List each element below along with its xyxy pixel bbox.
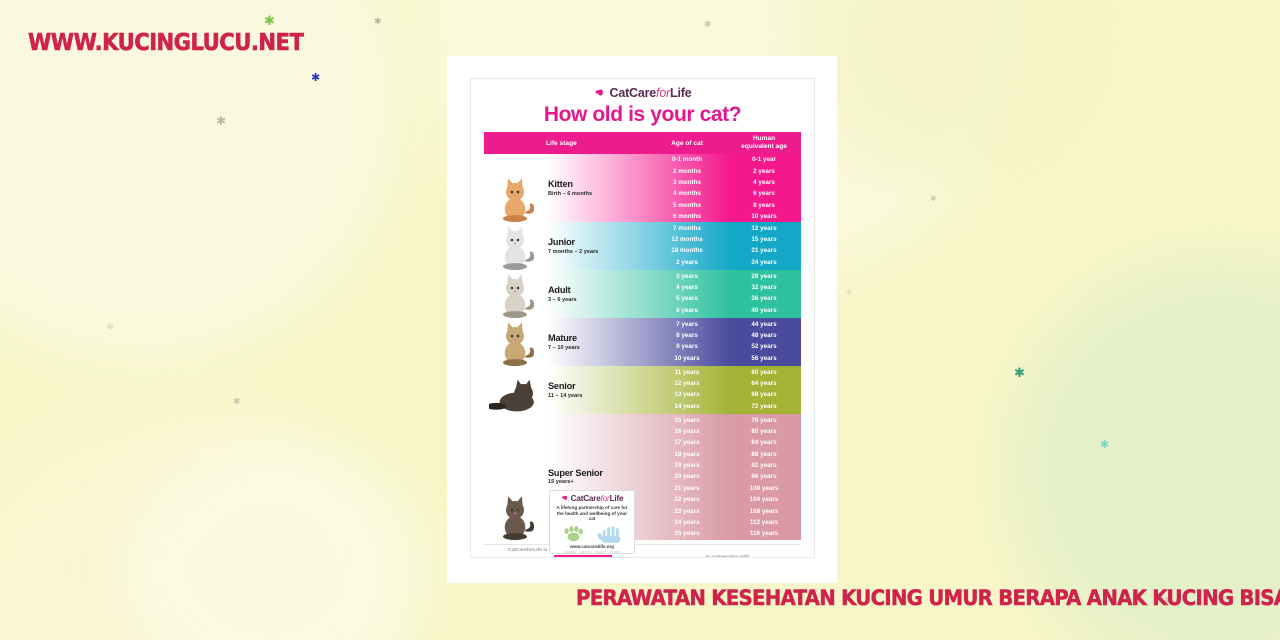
- decorative-star-icon: ✱: [233, 397, 241, 406]
- watermark-bottom-caption: PERAWATAN KESEHATAN KUCING UMUR BERAPA A…: [576, 586, 1280, 610]
- table-row: 23 years108 years: [649, 505, 803, 516]
- age-conversion-table: Life stage Age of cat Human equivalent a…: [484, 132, 801, 540]
- cell-human-equivalent-age: 56 years: [725, 355, 803, 362]
- table-body: KittenBirth – 6 months0-1 month0-1 year2…: [484, 154, 801, 540]
- cell-age-of-cat: 22 years: [649, 496, 725, 503]
- cat-photo-0: [489, 174, 541, 222]
- cell-age-of-cat: 14 years: [649, 403, 725, 410]
- cell-age-of-cat: 7 years: [649, 321, 725, 328]
- life-stage-band: Mature7 – 10 years7 years44 years8 years…: [484, 318, 801, 366]
- table-row: 2 months2 years: [649, 165, 803, 176]
- table-row: 25 years116 years: [649, 528, 803, 539]
- stage-age-range: 7 – 10 years: [548, 345, 649, 351]
- stage-name: Junior: [548, 238, 649, 248]
- table-row: 11 years60 years: [649, 366, 803, 377]
- stage-text-cell: Super Senior15 years+: [546, 469, 649, 486]
- age-rows-group: 11 years60 years12 years64 years13 years…: [649, 366, 803, 414]
- table-row: 14 years72 years: [649, 401, 803, 412]
- promo-brand-life: Life: [610, 494, 624, 503]
- cat-photo-4: [489, 366, 541, 414]
- table-row: 2 years24 years: [649, 257, 803, 268]
- table-row: 15 years76 years: [649, 414, 803, 425]
- age-rows-group: 7 years44 years8 years48 years9 years52 …: [649, 318, 803, 366]
- life-stage-label-cell: Mature7 – 10 years: [484, 318, 649, 366]
- cell-human-equivalent-age: 0-1 year: [725, 156, 803, 163]
- poster-footer: CatCareforLife is brought to you by inte…: [484, 544, 801, 558]
- age-rows-group: 7 months12 years12 months15 years18 mont…: [649, 222, 803, 270]
- cat-image-cell: [484, 318, 546, 366]
- cell-age-of-cat: 5 years: [649, 295, 725, 302]
- table-row: 4 months6 years: [649, 188, 803, 199]
- column-header-age-of-cat: Age of cat: [649, 140, 725, 147]
- stage-age-range: 11 – 14 years: [548, 393, 649, 399]
- cell-human-equivalent-age: 21 years: [725, 247, 803, 254]
- cell-age-of-cat: 6 months: [649, 213, 725, 220]
- cell-human-equivalent-age: 60 years: [725, 369, 803, 376]
- cell-human-equivalent-age: 108 years: [725, 508, 803, 515]
- life-stage-band: Adult3 – 6 years3 years28 years4 years32…: [484, 270, 801, 318]
- stage-age-range: 3 – 6 years: [548, 297, 649, 303]
- cell-age-of-cat: 11 years: [649, 369, 725, 376]
- cat-photo-5: [489, 492, 541, 540]
- watermark-top-url: WWW.KUCINGLUCU.NET: [28, 30, 303, 56]
- life-stage-band: Senior11 – 14 years11 years60 years12 ye…: [484, 366, 801, 414]
- life-stage-band: Junior7 months – 2 years7 months12 years…: [484, 222, 801, 270]
- cell-human-equivalent-age: 6 years: [725, 190, 803, 197]
- catcareforlife-logo: CatCareforLife: [471, 86, 814, 100]
- cell-human-equivalent-age: 52 years: [725, 343, 803, 350]
- cell-age-of-cat: 13 years: [649, 391, 725, 398]
- brand-life: Life: [670, 86, 691, 100]
- table-row: 7 months12 years: [649, 222, 803, 233]
- cell-age-of-cat: 2 years: [649, 259, 725, 266]
- table-row: 3 years28 years: [649, 270, 803, 281]
- cat-photo-3: [489, 318, 541, 366]
- cell-human-equivalent-age: 15 years: [725, 236, 803, 243]
- stage-age-range: Birth – 6 months: [548, 191, 649, 197]
- decorative-star-icon: ✱: [311, 73, 320, 84]
- cell-human-equivalent-age: 40 years: [725, 307, 803, 314]
- cell-age-of-cat: 5 months: [649, 202, 725, 209]
- cell-age-of-cat: 19 years: [649, 462, 725, 469]
- footer-partners: in partnership with IDEXX LABORATORIES ♖…: [654, 555, 801, 558]
- stage-age-range: 15 years+: [548, 479, 649, 485]
- promo-sponsor-logos: [550, 551, 634, 554]
- cell-human-equivalent-age: 44 years: [725, 321, 803, 328]
- table-row: 0-1 month0-1 year: [649, 154, 803, 165]
- decorative-star-icon: ✱: [106, 323, 114, 333]
- cell-human-equivalent-age: 96 years: [725, 473, 803, 480]
- column-header-life-stage: Life stage: [546, 140, 649, 147]
- cell-age-of-cat: 18 years: [649, 451, 725, 458]
- cell-age-of-cat: 23 years: [649, 508, 725, 515]
- table-row: 19 years92 years: [649, 460, 803, 471]
- table-row: 6 years40 years: [649, 305, 803, 316]
- decorative-star-icon: ✱: [1014, 366, 1025, 379]
- life-stage-band: Super Senior15 years+15 years76 years16 …: [484, 414, 801, 539]
- stage-text-cell: Senior11 – 14 years: [546, 382, 649, 399]
- isfm-wordmark: isfm: [554, 555, 612, 558]
- stage-text-cell: Junior7 months – 2 years: [546, 238, 649, 255]
- table-row: 5 months8 years: [649, 200, 803, 211]
- promo-brand-catcare: CatCare: [571, 494, 601, 503]
- cell-age-of-cat: 24 years: [649, 519, 725, 526]
- cell-age-of-cat: 7 months: [649, 225, 725, 232]
- table-row: 16 years80 years: [649, 426, 803, 437]
- cell-human-equivalent-age: 8 years: [725, 202, 803, 209]
- cell-age-of-cat: 3 years: [649, 273, 725, 280]
- column-header-human-line1: Human: [725, 135, 803, 143]
- decorative-star-icon: ✱: [846, 289, 853, 297]
- cell-age-of-cat: 21 years: [649, 485, 725, 492]
- cell-human-equivalent-age: 32 years: [725, 284, 803, 291]
- decorative-star-icon: ✱: [1100, 440, 1109, 451]
- international-cat-care-wordmark: international cat care: [507, 557, 550, 558]
- age-rows-group: 0-1 month0-1 year2 months2 years3 months…: [649, 154, 803, 222]
- cell-human-equivalent-age: 104 years: [725, 496, 803, 503]
- brand-for: for: [656, 86, 670, 100]
- table-row: 18 years88 years: [649, 449, 803, 460]
- cell-age-of-cat: 2 months: [649, 168, 725, 175]
- cell-age-of-cat: 4 months: [649, 190, 725, 197]
- cell-age-of-cat: 12 years: [649, 380, 725, 387]
- age-rows-group: 15 years76 years16 years80 years17 years…: [649, 414, 803, 539]
- catcareforlife-promo-card[interactable]: CatCareforLife A lifelong partnership of…: [549, 490, 635, 554]
- footer-logo-row: international cat care isfm Internationa…: [484, 555, 654, 558]
- stage-name: Mature: [548, 334, 649, 344]
- stage-name: Kitten: [548, 180, 649, 190]
- decorative-star-icon: ✱: [704, 20, 712, 29]
- promo-logo: CatCareforLife: [550, 494, 634, 503]
- promo-sponsor-logo: [609, 551, 621, 554]
- table-row: 22 years104 years: [649, 494, 803, 505]
- stage-text-cell: Mature7 – 10 years: [546, 334, 649, 351]
- table-row: 8 years48 years: [649, 330, 803, 341]
- stage-name: Super Senior: [548, 469, 649, 479]
- cat-image-cell: [484, 154, 546, 222]
- cell-age-of-cat: 17 years: [649, 439, 725, 446]
- cell-human-equivalent-age: 24 years: [725, 259, 803, 266]
- cell-human-equivalent-age: 112 years: [725, 519, 803, 526]
- cell-human-equivalent-age: 28 years: [725, 273, 803, 280]
- table-row: 20 years96 years: [649, 471, 803, 482]
- background-blob-green: [1010, 260, 1280, 640]
- promo-sponsor-logo: [579, 551, 591, 554]
- life-stage-label-cell: KittenBirth – 6 months: [484, 154, 649, 222]
- cell-human-equivalent-age: 116 years: [725, 530, 803, 537]
- table-row: 3 months4 years: [649, 177, 803, 188]
- green-paw-icon: [564, 526, 582, 541]
- cell-human-equivalent-age: 80 years: [725, 428, 803, 435]
- cell-human-equivalent-age: 12 years: [725, 225, 803, 232]
- stage-name: Senior: [548, 382, 649, 392]
- table-row: 18 months21 years: [649, 245, 803, 256]
- cat-image-cell: [484, 366, 546, 414]
- blue-hand-icon: [597, 526, 621, 543]
- cell-human-equivalent-age: 2 years: [725, 168, 803, 175]
- cell-age-of-cat: 3 months: [649, 179, 725, 186]
- cat-photo-2: [489, 270, 541, 318]
- table-row: 4 years32 years: [649, 282, 803, 293]
- promo-brand-for: for: [601, 494, 610, 503]
- cell-human-equivalent-age: 72 years: [725, 403, 803, 410]
- cell-age-of-cat: 16 years: [649, 428, 725, 435]
- stage-name: Adult: [548, 286, 649, 296]
- cat-paw-icon: [561, 494, 570, 503]
- cell-age-of-cat: 9 years: [649, 343, 725, 350]
- cell-human-equivalent-age: 36 years: [725, 295, 803, 302]
- cat-image-cell: [484, 270, 546, 318]
- brand-text: CatCareforLife: [610, 86, 692, 100]
- brand-catcare: CatCare: [610, 86, 657, 100]
- cat-age-chart-poster: CatCareforLife How old is your cat? Life…: [470, 78, 815, 558]
- table-row: 21 years100 years: [649, 483, 803, 494]
- cell-human-equivalent-age: 84 years: [725, 439, 803, 446]
- decorative-star-icon: ✱: [374, 17, 382, 26]
- cell-age-of-cat: 15 years: [649, 417, 725, 424]
- cell-age-of-cat: 20 years: [649, 473, 725, 480]
- table-row: 24 years112 years: [649, 517, 803, 528]
- international-cat-care-icon: [484, 556, 503, 558]
- promo-sponsor-logo: [564, 551, 576, 554]
- decorative-star-icon: ✱: [930, 195, 937, 203]
- cell-human-equivalent-age: 88 years: [725, 451, 803, 458]
- promo-url[interactable]: www.catcare4life.org: [550, 544, 634, 549]
- cell-age-of-cat: 12 months: [649, 236, 725, 243]
- stage-age-range: 7 months – 2 years: [548, 249, 649, 255]
- cell-human-equivalent-age: 100 years: [725, 485, 803, 492]
- page-title: How old is your cat?: [471, 103, 814, 127]
- life-stage-band: KittenBirth – 6 months0-1 month0-1 year2…: [484, 154, 801, 222]
- promo-tagline: A lifelong partnership of care for the h…: [550, 505, 634, 522]
- cat-paw-icon: [594, 87, 607, 100]
- cell-human-equivalent-age: 64 years: [725, 380, 803, 387]
- cat-photo-1: [489, 222, 541, 270]
- table-row: 12 years64 years: [649, 378, 803, 389]
- isfm-logo: isfm International Society of Feline Med…: [554, 555, 612, 558]
- cell-age-of-cat: 18 months: [649, 247, 725, 254]
- promo-artwork: [550, 523, 634, 543]
- cell-age-of-cat: 10 years: [649, 355, 725, 362]
- stage-text-cell: KittenBirth – 6 months: [546, 180, 649, 197]
- stage-text-cell: Adult3 – 6 years: [546, 286, 649, 303]
- column-header-human-equivalent-age: Human equivalent age: [725, 135, 803, 150]
- icc-line-1: international: [507, 557, 550, 558]
- footer-partnership-label: in partnership with: [654, 555, 801, 558]
- cell-human-equivalent-age: 10 years: [725, 213, 803, 220]
- cell-human-equivalent-age: 92 years: [725, 462, 803, 469]
- cell-human-equivalent-age: 48 years: [725, 332, 803, 339]
- table-row: 7 years44 years: [649, 318, 803, 329]
- cell-age-of-cat: 6 years: [649, 307, 725, 314]
- cat-image-cell: [484, 414, 546, 539]
- table-row: 17 years84 years: [649, 437, 803, 448]
- table-row: 6 months10 years: [649, 211, 803, 222]
- column-header-human-line2: equivalent age: [725, 143, 803, 151]
- life-stage-label-cell: Junior7 months – 2 years: [484, 222, 649, 270]
- decorative-star-icon: ✱: [216, 115, 226, 127]
- age-rows-group: 3 years28 years4 years32 years5 years36 …: [649, 270, 803, 318]
- cell-age-of-cat: 0-1 month: [649, 156, 725, 163]
- cell-human-equivalent-age: 76 years: [725, 417, 803, 424]
- paw-and-hand-icon: [550, 523, 634, 543]
- cell-human-equivalent-age: 68 years: [725, 391, 803, 398]
- table-row: 12 months15 years: [649, 234, 803, 245]
- table-row: 10 years56 years: [649, 353, 803, 364]
- cell-human-equivalent-age: 4 years: [725, 179, 803, 186]
- promo-sponsor-logo: [594, 551, 606, 554]
- table-header-row: Life stage Age of cat Human equivalent a…: [484, 132, 801, 154]
- table-row: 13 years68 years: [649, 389, 803, 400]
- cell-age-of-cat: 8 years: [649, 332, 725, 339]
- table-row: 9 years52 years: [649, 341, 803, 352]
- promo-brand-text: CatCareforLife: [571, 494, 624, 503]
- life-stage-label-cell: Adult3 – 6 years: [484, 270, 649, 318]
- table-row: 5 years36 years: [649, 293, 803, 304]
- life-stage-label-cell: Senior11 – 14 years: [484, 366, 649, 414]
- cell-age-of-cat: 4 years: [649, 284, 725, 291]
- decorative-star-icon: ✱: [264, 14, 275, 27]
- cat-image-cell: [484, 222, 546, 270]
- cell-age-of-cat: 25 years: [649, 530, 725, 537]
